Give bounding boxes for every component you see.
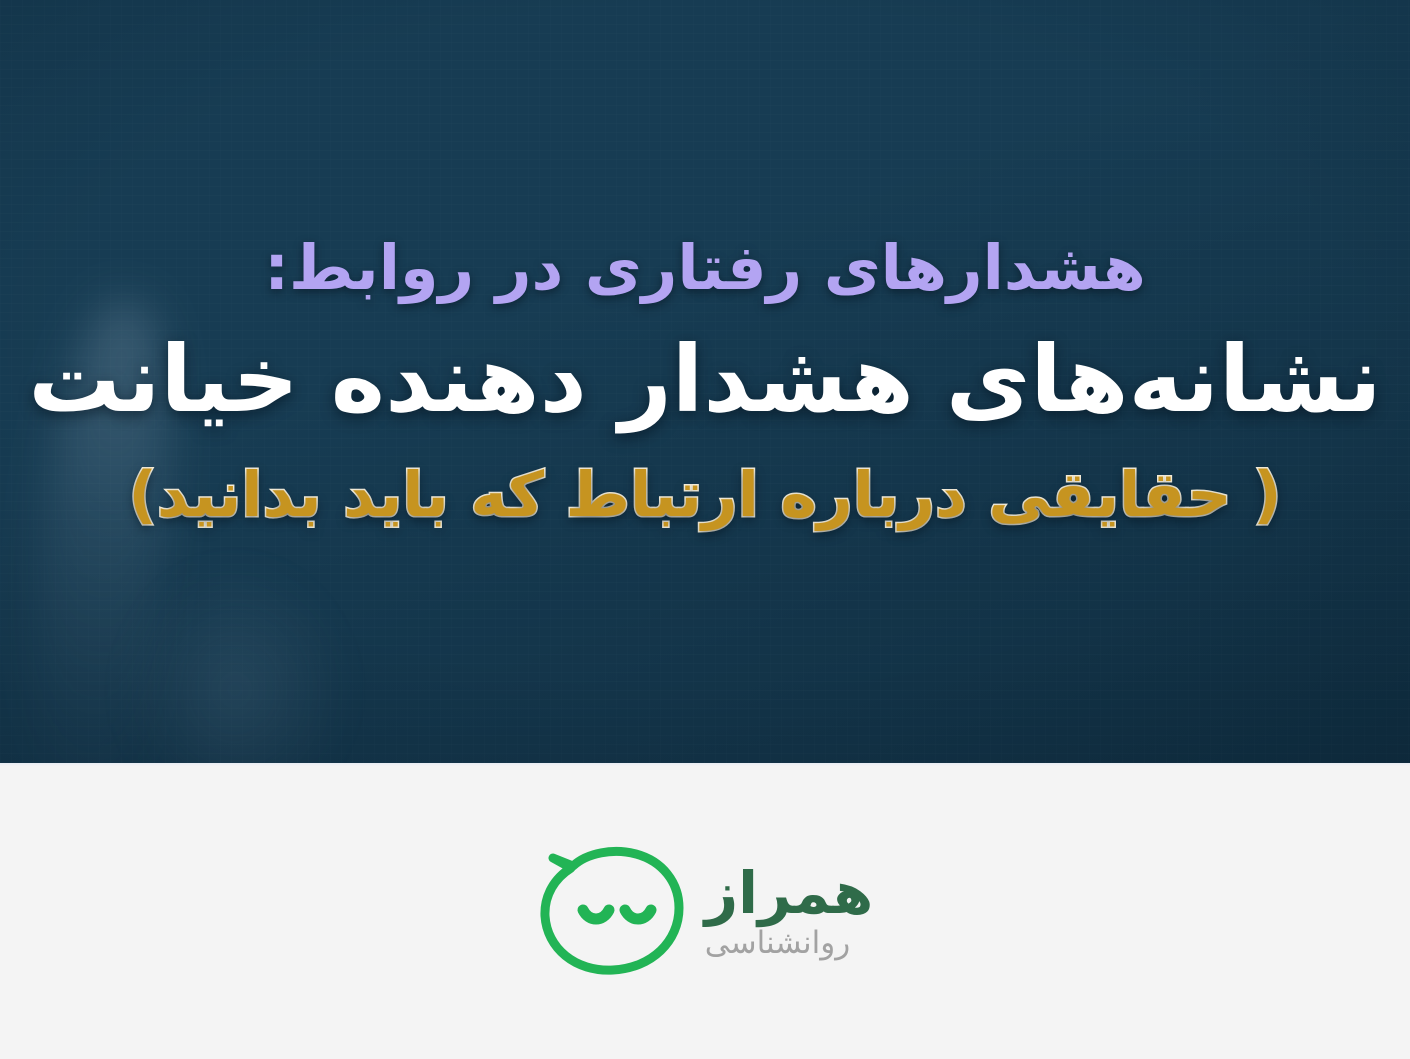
brand-wordmark: همراز روانشناسی — [705, 864, 873, 959]
hero-subline: ( حقایقی درباره ارتباط که باید بدانید) — [88, 460, 1321, 529]
hero-kicker: هشدارهای رفتاری در روابط: — [224, 233, 1186, 302]
footer-seam-divider — [0, 763, 1410, 766]
brand-name: همراز — [705, 864, 873, 922]
poster-canvas: هشدارهای رفتاری در روابط: نشانه‌های هشدا… — [0, 0, 1410, 1059]
hero-text-block: هشدارهای رفتاری در روابط: نشانه‌های هشدا… — [0, 0, 1410, 763]
hero-panel: هشدارهای رفتاری در روابط: نشانه‌های هشدا… — [0, 0, 1410, 763]
brand-tagline: روانشناسی — [705, 928, 850, 959]
speech-bubble-smiley-icon — [537, 840, 687, 982]
brand-logo[interactable]: همراز روانشناسی — [0, 840, 1410, 982]
hero-headline: نشانه‌های هشدار دهنده خیانت — [0, 329, 1409, 430]
footer-panel: همراز روانشناسی — [0, 763, 1410, 1059]
